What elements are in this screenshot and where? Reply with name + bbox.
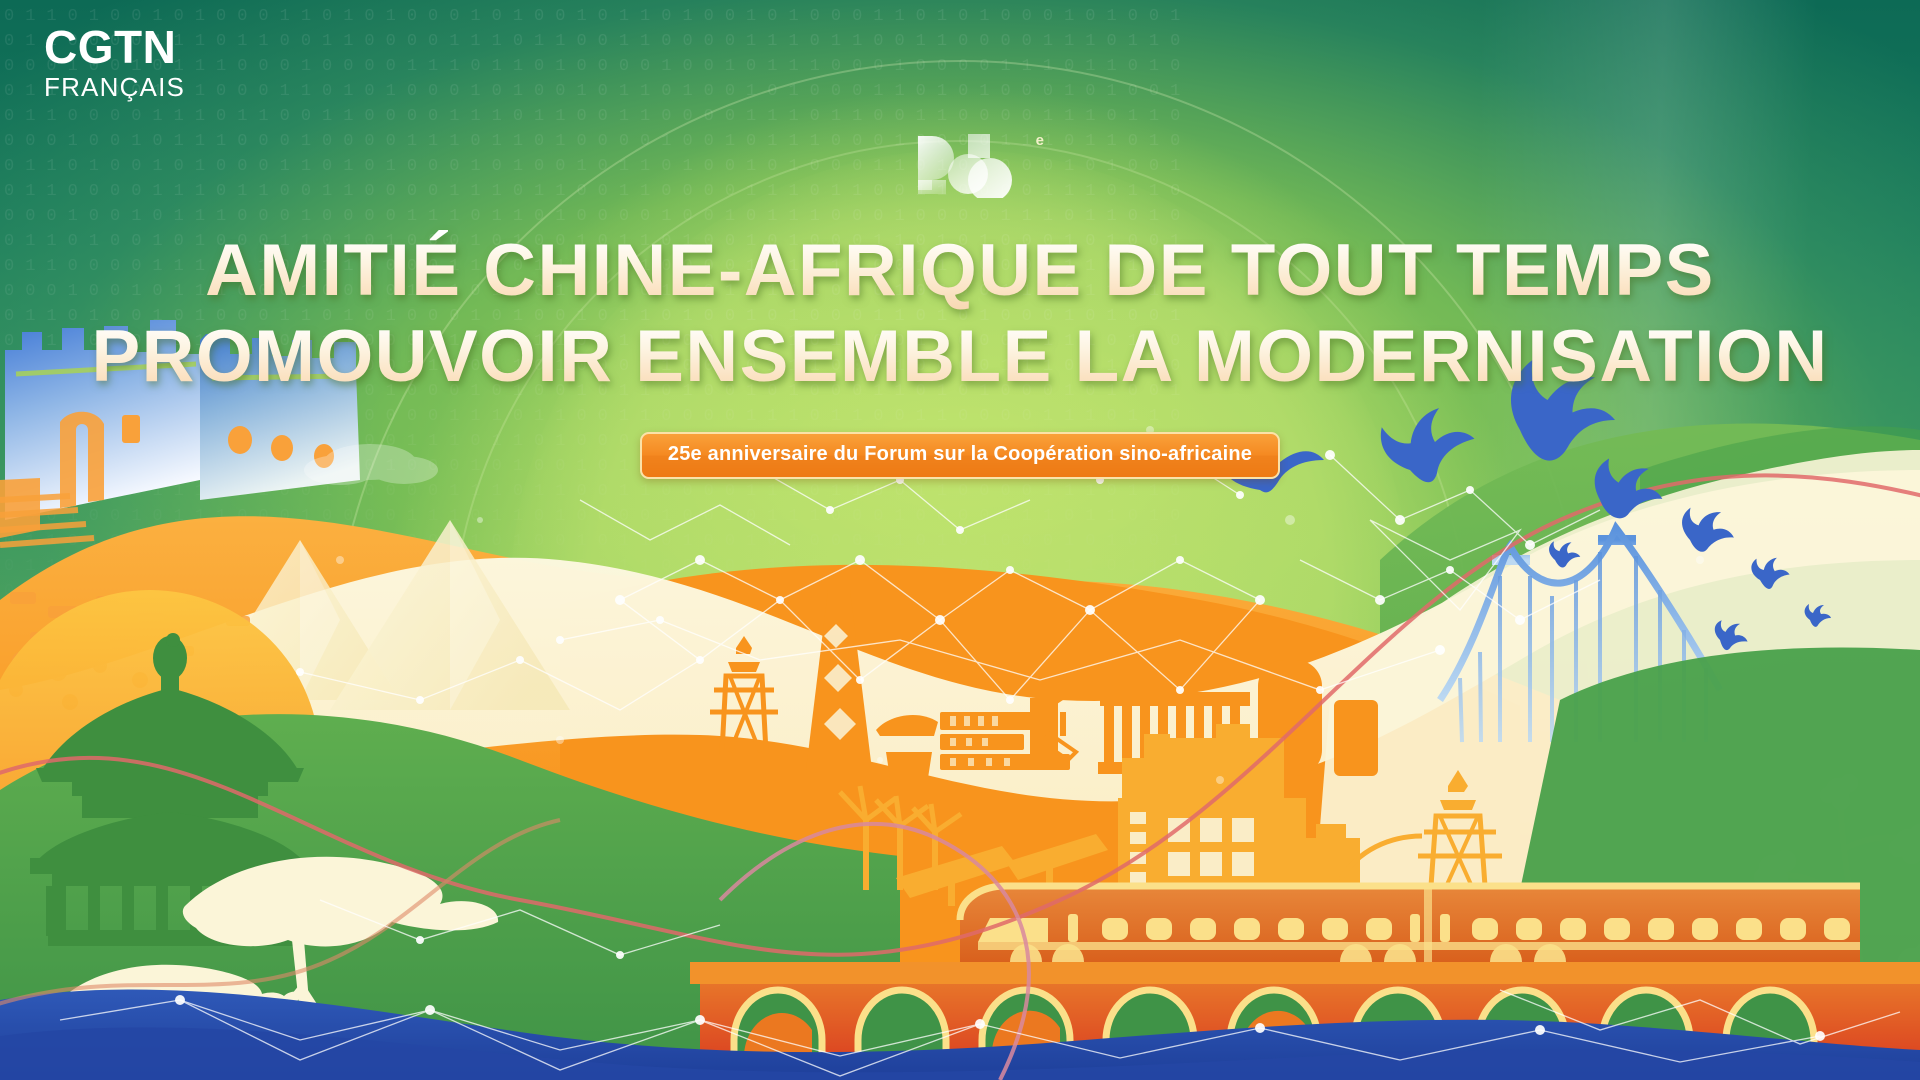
- poster-canvas: 0110100101000110101000101001011010010100…: [0, 0, 1920, 1080]
- anniversary-superscript: e: [1036, 132, 1044, 149]
- headline-line-2: PROMOUVOIR ENSEMBLE LA MODERNISATION: [0, 314, 1920, 400]
- high-speed-train: [960, 886, 1860, 962]
- subtitle-pill: 25e anniversaire du Forum sur la Coopéra…: [640, 432, 1280, 479]
- headline-line-1: AMITIÉ CHINE-AFRIQUE DE TOUT TEMPS: [0, 228, 1920, 314]
- anniversary-25-icon: e: [910, 128, 1030, 198]
- subtitle-block: 25e anniversaire du Forum sur la Coopéra…: [0, 432, 1920, 479]
- headline-block: AMITIÉ CHINE-AFRIQUE DE TOUT TEMPS PROMO…: [0, 228, 1920, 400]
- logo-language-text: FRANÇAIS: [44, 72, 185, 102]
- logo-cgtn-text: CGTN: [44, 22, 185, 72]
- cgtn-logo[interactable]: CGTN FRANÇAIS: [44, 22, 185, 102]
